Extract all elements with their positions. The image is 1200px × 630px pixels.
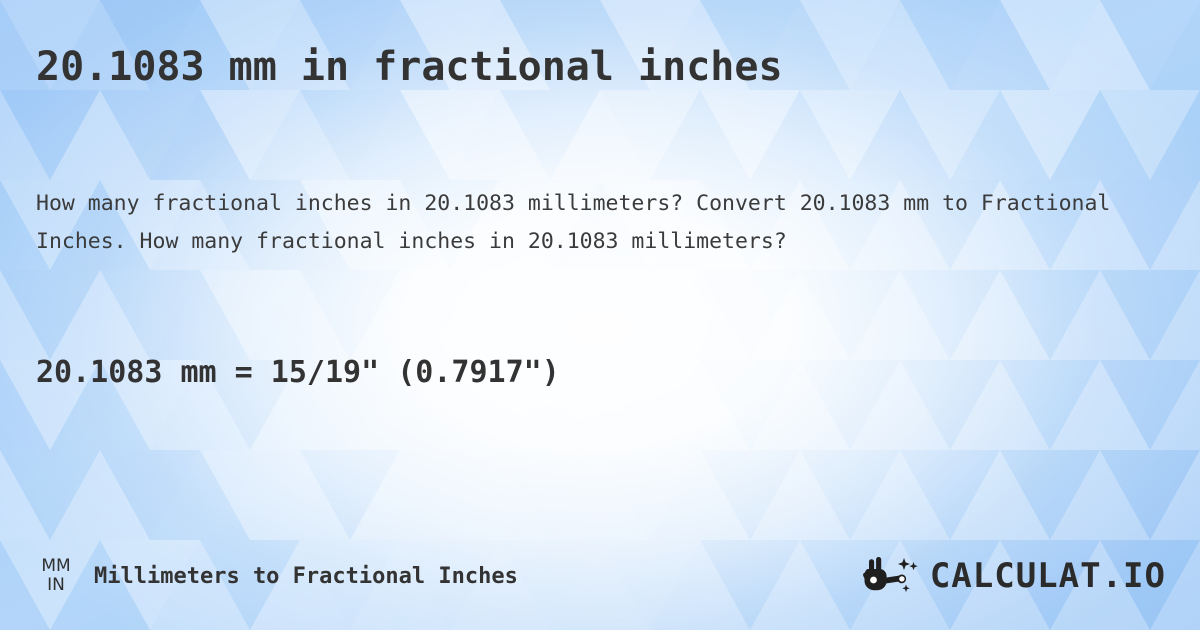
footer-title: Millimeters to Fractional Inches (94, 564, 518, 589)
brand-logo[interactable]: CALCULAT.IO (861, 556, 1166, 596)
footer: MM IN Millimeters to Fractional Inches (0, 548, 1200, 604)
page-title: 20.1083 mm in fractional inches (36, 44, 783, 90)
unit-badge-bottom: IN (47, 577, 65, 594)
unit-badge-top: MM (41, 558, 70, 575)
conversion-result: 20.1083 mm = 15/19" (0.7917") (36, 355, 560, 390)
magic-wand-hand-icon (861, 556, 923, 596)
brand-name: CALCULAT.IO (930, 559, 1166, 593)
content-area: 20.1083 mm in fractional inches How many… (0, 0, 1200, 630)
unit-badge: MM IN (34, 558, 78, 594)
footer-left: MM IN Millimeters to Fractional Inches (34, 558, 518, 594)
page-description: How many fractional inches in 20.1083 mi… (36, 185, 1161, 261)
og-image-canvas: 20.1083 mm in fractional inches How many… (0, 0, 1200, 630)
